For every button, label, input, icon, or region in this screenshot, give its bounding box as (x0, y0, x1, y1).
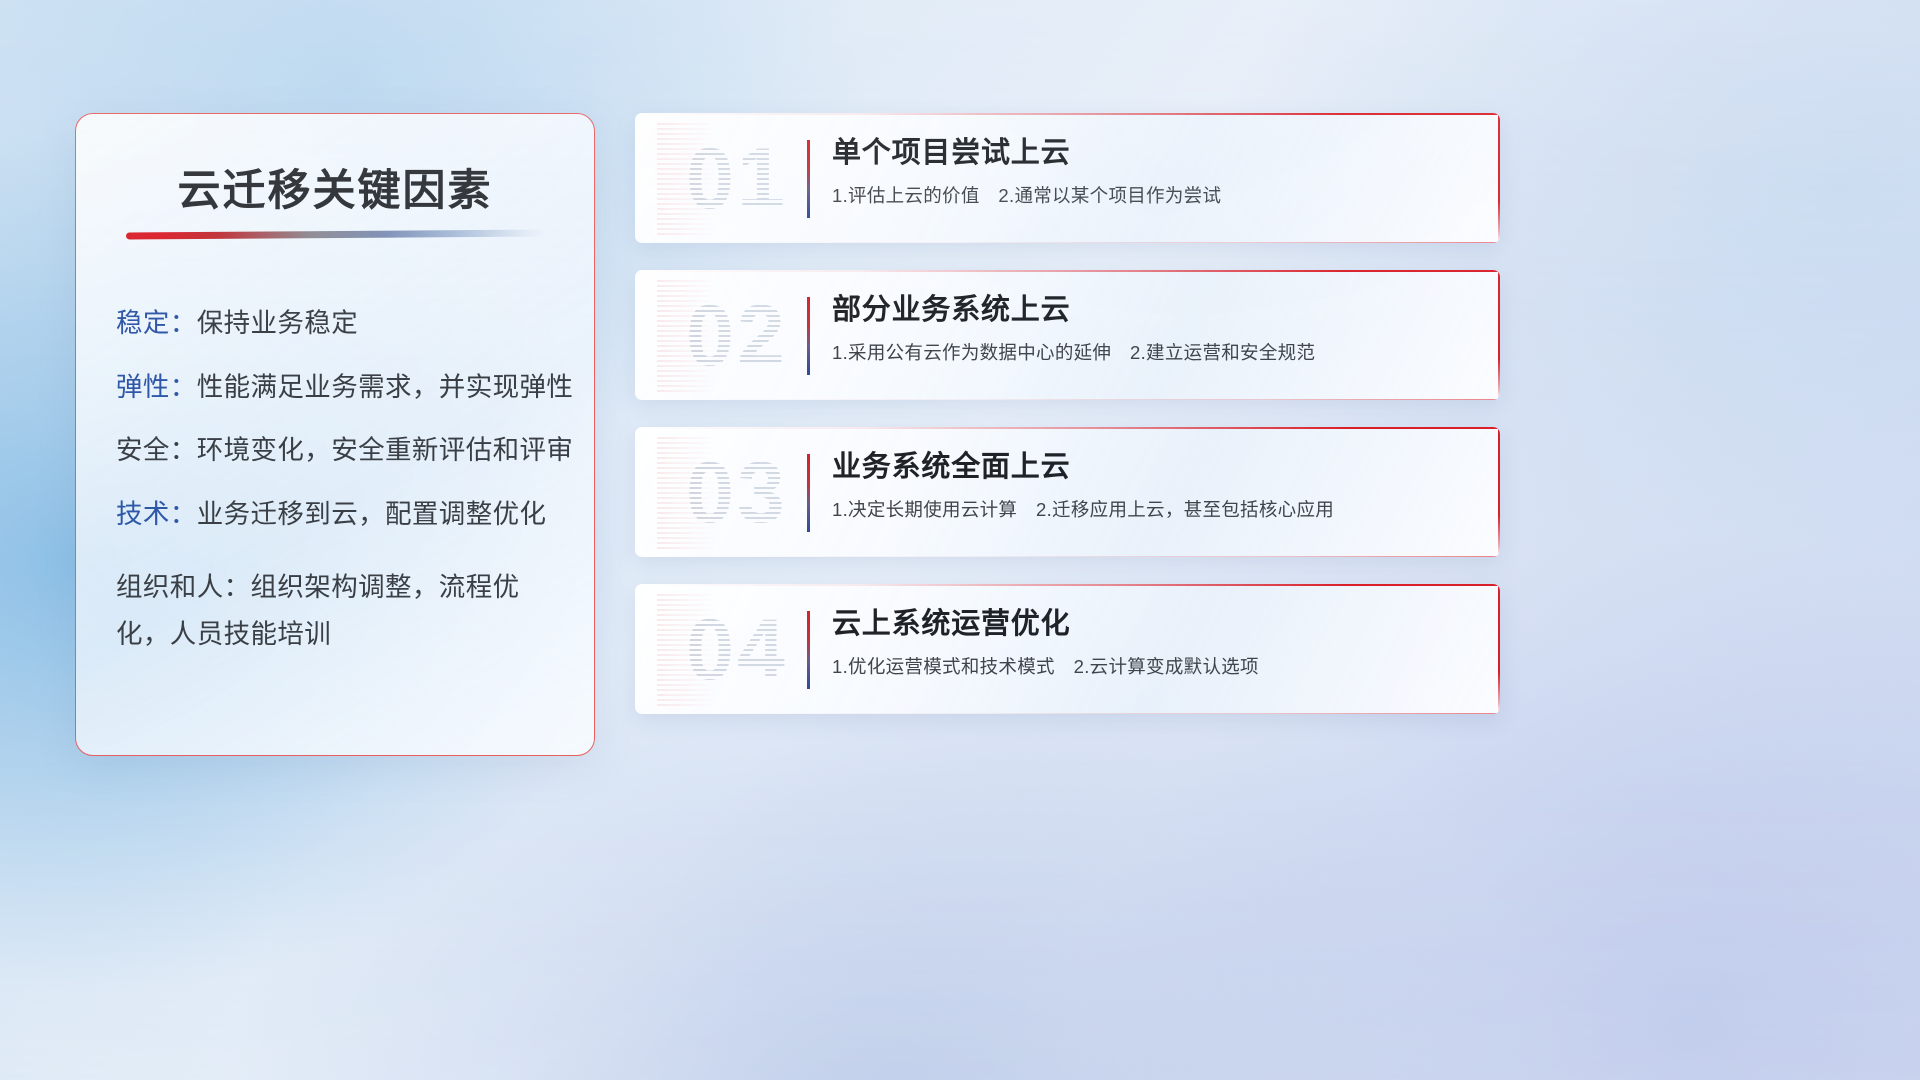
stage-number: 04 (657, 594, 817, 706)
stage-body: 云上系统运营优化 1.优化运营模式和技术模式 2.云计算变成默认选项 (832, 606, 1476, 679)
list-item: 组织和人：组织架构调整，流程优化，人员技能培训 (116, 564, 568, 658)
factor-text: 性能满足业务需求，并实现弹性 (197, 372, 574, 402)
stage-divider-bar (807, 454, 810, 532)
migration-stage-list: 01 单个项目尝试上云 1.评估上云的价值 2.通常以某个项目作为尝试 02 部… (635, 113, 1500, 714)
title-gradient-divider (126, 230, 546, 240)
slide-canvas: 云迁移关键因素 稳定：保持业务稳定 弹性：性能满足业务需求，并实现弹性 安全：环… (0, 0, 1920, 1080)
stage-card-03[interactable]: 03 业务系统全面上云 1.决定长期使用云计算 2.迁移应用上云，甚至包括核心应… (635, 427, 1500, 557)
stage-title: 部分业务系统上云 (832, 292, 1476, 328)
factor-text: 环境变化，安全重新评估和评审 (197, 435, 574, 465)
list-item: 安全：环境变化，安全重新评估和评审 (116, 437, 568, 464)
stage-description: 1.决定长期使用云计算 2.迁移应用上云，甚至包括核心应用 (832, 498, 1476, 522)
stage-body: 单个项目尝试上云 1.评估上云的价值 2.通常以某个项目作为尝试 (832, 135, 1476, 208)
stage-number: 03 (657, 437, 817, 549)
stage-title: 单个项目尝试上云 (832, 135, 1476, 171)
card-top-accent-line (635, 270, 1500, 272)
card-right-accent-line (1498, 427, 1500, 557)
card-bottom-accent-line (635, 399, 1500, 400)
stage-description: 1.优化运营模式和技术模式 2.云计算变成默认选项 (832, 655, 1476, 679)
card-bottom-accent-line (635, 556, 1500, 557)
stage-body: 部分业务系统上云 1.采用公有云作为数据中心的延伸 2.建立运营和安全规范 (832, 292, 1476, 365)
stage-card-02[interactable]: 02 部分业务系统上云 1.采用公有云作为数据中心的延伸 2.建立运营和安全规范 (635, 270, 1500, 400)
list-item: 弹性：性能满足业务需求，并实现弹性 (116, 374, 568, 401)
factor-label: 弹性： (116, 372, 197, 402)
factor-label: 稳定： (116, 308, 197, 338)
stage-card-01[interactable]: 01 单个项目尝试上云 1.评估上云的价值 2.通常以某个项目作为尝试 (635, 113, 1500, 243)
factor-text: 保持业务稳定 (197, 308, 358, 338)
stage-divider-bar (807, 140, 810, 218)
stage-body: 业务系统全面上云 1.决定长期使用云计算 2.迁移应用上云，甚至包括核心应用 (832, 449, 1476, 522)
factor-label: 安全： (116, 435, 197, 465)
list-item: 技术：业务迁移到云，配置调整优化 (116, 501, 568, 528)
stage-title: 业务系统全面上云 (832, 449, 1476, 485)
list-item: 稳定：保持业务稳定 (116, 310, 568, 337)
key-factors-panel: 云迁移关键因素 稳定：保持业务稳定 弹性：性能满足业务需求，并实现弹性 安全：环… (75, 113, 595, 756)
factor-label: 技术： (116, 499, 197, 529)
stage-divider-bar (807, 611, 810, 689)
card-top-accent-line (635, 427, 1500, 429)
card-right-accent-line (1498, 113, 1500, 243)
stage-divider-bar (807, 297, 810, 375)
key-factors-list: 稳定：保持业务稳定 弹性：性能满足业务需求，并实现弹性 安全：环境变化，安全重新… (116, 310, 568, 658)
card-top-accent-line (635, 113, 1500, 115)
factor-label: 组织和人： (116, 572, 251, 602)
stage-number: 01 (657, 123, 817, 235)
page-title: 云迁移关键因素 (76, 156, 594, 218)
stage-description: 1.评估上云的价值 2.通常以某个项目作为尝试 (832, 184, 1476, 208)
factor-text: 业务迁移到云，配置调整优化 (197, 499, 547, 529)
card-right-accent-line (1498, 584, 1500, 714)
stage-card-04[interactable]: 04 云上系统运营优化 1.优化运营模式和技术模式 2.云计算变成默认选项 (635, 584, 1500, 714)
stage-title: 云上系统运营优化 (832, 606, 1476, 642)
stage-description: 1.采用公有云作为数据中心的延伸 2.建立运营和安全规范 (832, 341, 1476, 365)
card-top-accent-line (635, 584, 1500, 586)
stage-number: 02 (657, 280, 817, 392)
card-bottom-accent-line (635, 713, 1500, 714)
card-right-accent-line (1498, 270, 1500, 400)
card-bottom-accent-line (635, 242, 1500, 243)
